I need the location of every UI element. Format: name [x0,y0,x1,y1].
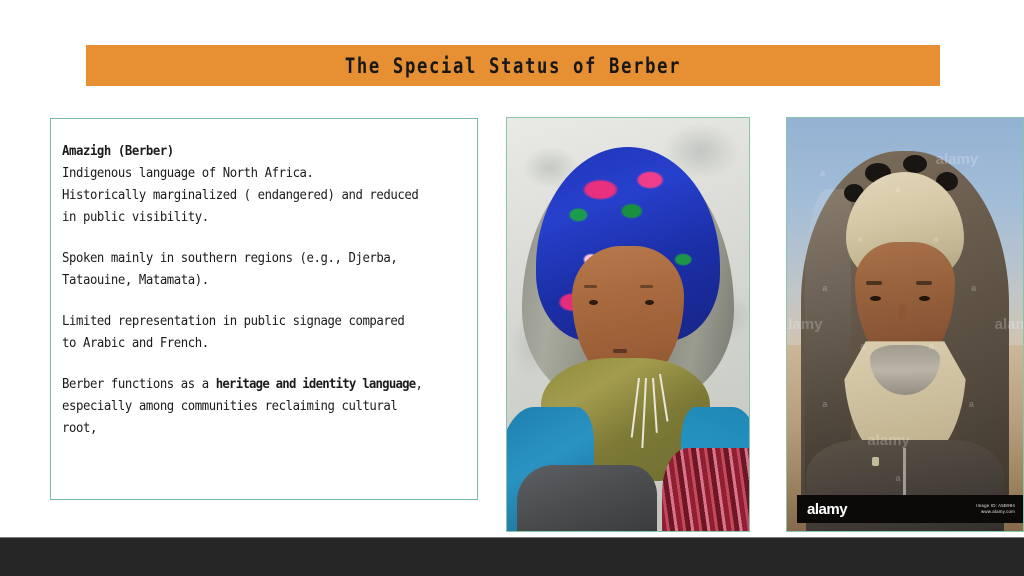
man-nose [899,304,906,320]
paragraph-spacer [62,292,459,311]
panel-paragraph-1: Indigenous language of North Africa. [62,163,435,185]
alamy-website: www.alamy.com [976,509,1015,515]
woman-eyebrow-left [584,285,597,288]
man-eye-right [919,296,930,301]
slide-bottom-bar [0,537,1024,576]
content-text-panel: Amazigh (Berber) Indigenous language of … [50,118,478,500]
panel-paragraph-4: Limited representation in public signage… [62,311,435,355]
man-eyebrow-right [916,281,932,285]
paragraph-spacer [62,229,459,248]
panel-paragraph-2: Historically marginalized ( endangered) … [62,185,435,229]
woman-grey-garment [517,465,657,531]
paragraph-spacer [62,355,459,374]
photo-berber-woman [506,117,750,532]
page-title: The Special Status of Berber [345,54,681,78]
man-pendant [872,457,879,466]
man-eye-left [870,296,881,301]
woman-mouth [613,349,627,353]
man-eyebrow-left [866,281,882,285]
paragraph-5-lead-text: Berber functions as a [62,377,216,392]
woman-eyebrow-right [640,285,653,288]
panel-paragraph-3: Spoken mainly in southern regions (e.g.,… [62,248,435,292]
panel-paragraph-5: Berber functions as a heritage and ident… [62,374,435,440]
alamy-footer-bar: alamy Image ID: A5B994 www.alamy.com [797,495,1023,523]
woman-striped-cloth [662,448,749,531]
alamy-metadata: Image ID: A5B994 www.alamy.com [976,503,1015,515]
woman-eye-left [589,300,598,305]
alamy-logo: alamy [807,501,847,518]
title-banner: The Special Status of Berber [86,45,940,86]
panel-heading: Amazigh (Berber) [62,141,435,163]
photo-berber-man: alamy alamy alamy alamy alamy a a a a a … [786,117,1024,532]
man-turban-tassel [903,155,927,173]
paragraph-5-bold-text: heritage and identity language [216,377,416,392]
woman-eye-right [645,300,654,305]
